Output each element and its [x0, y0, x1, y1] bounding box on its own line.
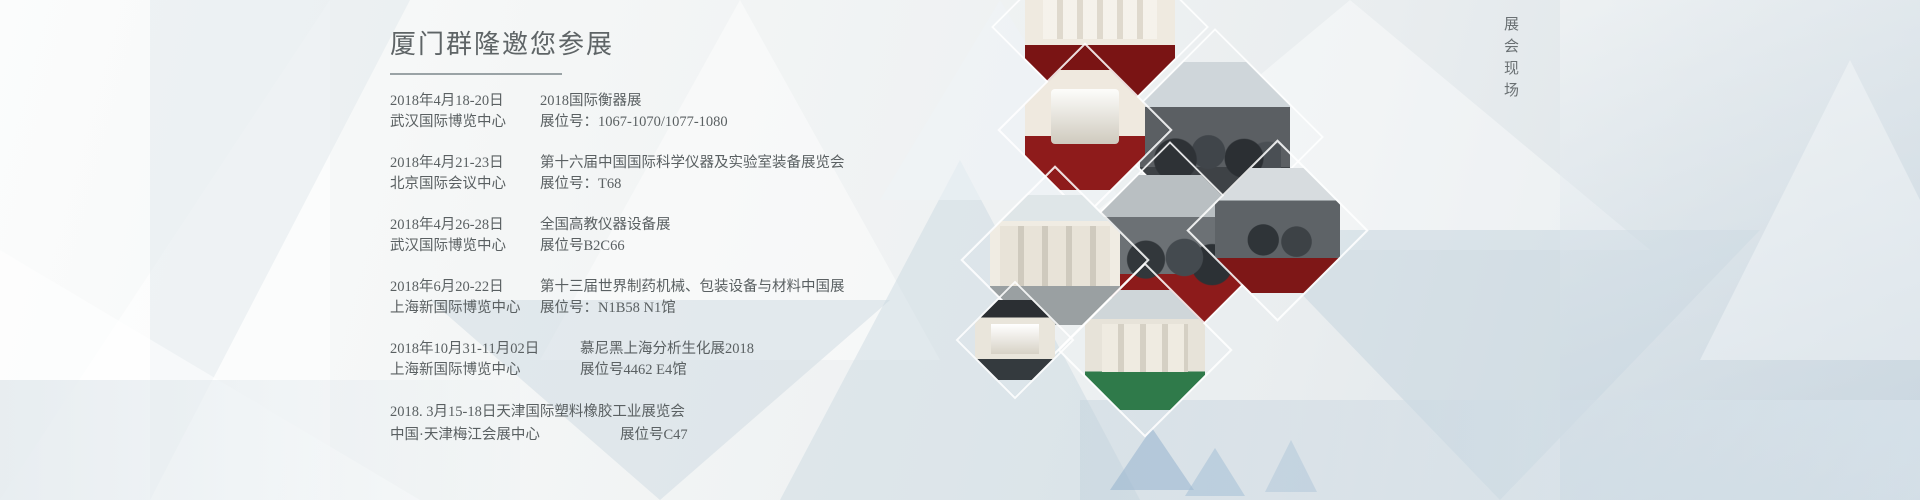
entry-name: 2018国际衡器展: [540, 91, 642, 112]
entry-venue: 武汉国际博览中心: [390, 236, 540, 257]
page-title: 厦门群隆邀您参展: [390, 24, 1030, 69]
exhibition-entry: 2018. 3月15-18日天津国际塑料橡胶工业展览会 中国·天津梅江会展中心展…: [390, 401, 1030, 447]
entry-date: 2018年10月31-11月02日: [390, 339, 580, 360]
entry-booth: 展位号C47: [620, 424, 688, 447]
entry-booth: 展位号4462 E4馆: [580, 360, 687, 381]
entry-date: 2018年4月26-28日: [390, 215, 540, 236]
entry-name: 第十六届中国国际科学仪器及实验室装备展览会: [540, 153, 845, 174]
entry-venue: 中国·天津梅江会展中心: [390, 424, 620, 447]
entry-line-date: 2018年4月26-28日全国高教仪器设备展: [390, 215, 1030, 236]
entry-line-venue: 上海新国际博览中心展位号：N1B58 N1馆: [390, 298, 1030, 319]
entry-booth: 展位号B2C66: [540, 236, 625, 257]
entry-line-date: 2018年4月21-23日第十六届中国国际科学仪器及实验室装备展览会: [390, 153, 1030, 174]
entry-line-date: 2018年4月18-20日2018国际衡器展: [390, 91, 1030, 112]
entry-venue: 上海新国际博览中心: [390, 298, 540, 319]
exhibition-entry: 2018年6月20-22日第十三届世界制药机械、包装设备与材料中国展 上海新国际…: [390, 277, 1030, 319]
promo-banner: 厦门群隆邀您参展 2018年4月18-20日2018国际衡器展 武汉国际博览中心…: [0, 0, 1920, 500]
entry-booth: 展位号：N1B58 N1馆: [540, 298, 676, 319]
entry-date: 2018年6月20-22日: [390, 277, 540, 298]
vertical-caption: 展会现场: [1500, 16, 1521, 104]
entry-line-venue: 上海新国际博览中心展位号4462 E4馆: [390, 360, 1030, 381]
entry-line-title: 2018. 3月15-18日天津国际塑料橡胶工业展览会: [390, 401, 1030, 424]
entry-name: 慕尼黑上海分析生化展2018: [580, 339, 754, 360]
exhibition-entry: 2018年4月21-23日第十六届中国国际科学仪器及实验室装备展览会 北京国际会…: [390, 153, 1030, 195]
photo-collage: 密度计&水分仪中国 厦门群隆仪器有限公司: [1030, 0, 1450, 500]
exhibition-entry: 2018年4月26-28日全国高教仪器设备展 武汉国际博览中心展位号B2C66: [390, 215, 1030, 257]
entry-line-date: 2018年6月20-22日第十三届世界制药机械、包装设备与材料中国展: [390, 277, 1030, 298]
entry-name: 第十三届世界制药机械、包装设备与材料中国展: [540, 277, 845, 298]
entry-line-venue: 中国·天津梅江会展中心展位号C47: [390, 424, 1030, 447]
entry-booth: 展位号：1067-1070/1077-1080: [540, 112, 728, 133]
entry-date: 2018年4月18-20日: [390, 91, 540, 112]
entry-line-venue: 武汉国际博览中心展位号B2C66: [390, 236, 1030, 257]
bg-polygon: [1700, 60, 1920, 360]
title-underline: [390, 73, 562, 75]
entry-venue: 上海新国际博览中心: [390, 360, 580, 381]
entry-name: 全国高教仪器设备展: [540, 215, 671, 236]
entry-booth: 展位号：T68: [540, 174, 621, 195]
entry-venue: 武汉国际博览中心: [390, 112, 540, 133]
entry-title: 2018. 3月15-18日天津国际塑料橡胶工业展览会: [390, 401, 685, 424]
entry-line-venue: 北京国际会议中心展位号：T68: [390, 174, 1030, 195]
entry-line-date: 2018年10月31-11月02日慕尼黑上海分析生化展2018: [390, 339, 1030, 360]
entry-line-venue: 武汉国际博览中心展位号：1067-1070/1077-1080: [390, 112, 1030, 133]
entry-date: 2018年4月21-23日: [390, 153, 540, 174]
exhibition-entry: 2018年10月31-11月02日慕尼黑上海分析生化展2018 上海新国际博览中…: [390, 339, 1030, 381]
exhibition-entry: 2018年4月18-20日2018国际衡器展 武汉国际博览中心展位号：1067-…: [390, 91, 1030, 133]
entry-venue: 北京国际会议中心: [390, 174, 540, 195]
exhibition-list: 厦门群隆邀您参展 2018年4月18-20日2018国际衡器展 武汉国际博览中心…: [390, 24, 1030, 467]
